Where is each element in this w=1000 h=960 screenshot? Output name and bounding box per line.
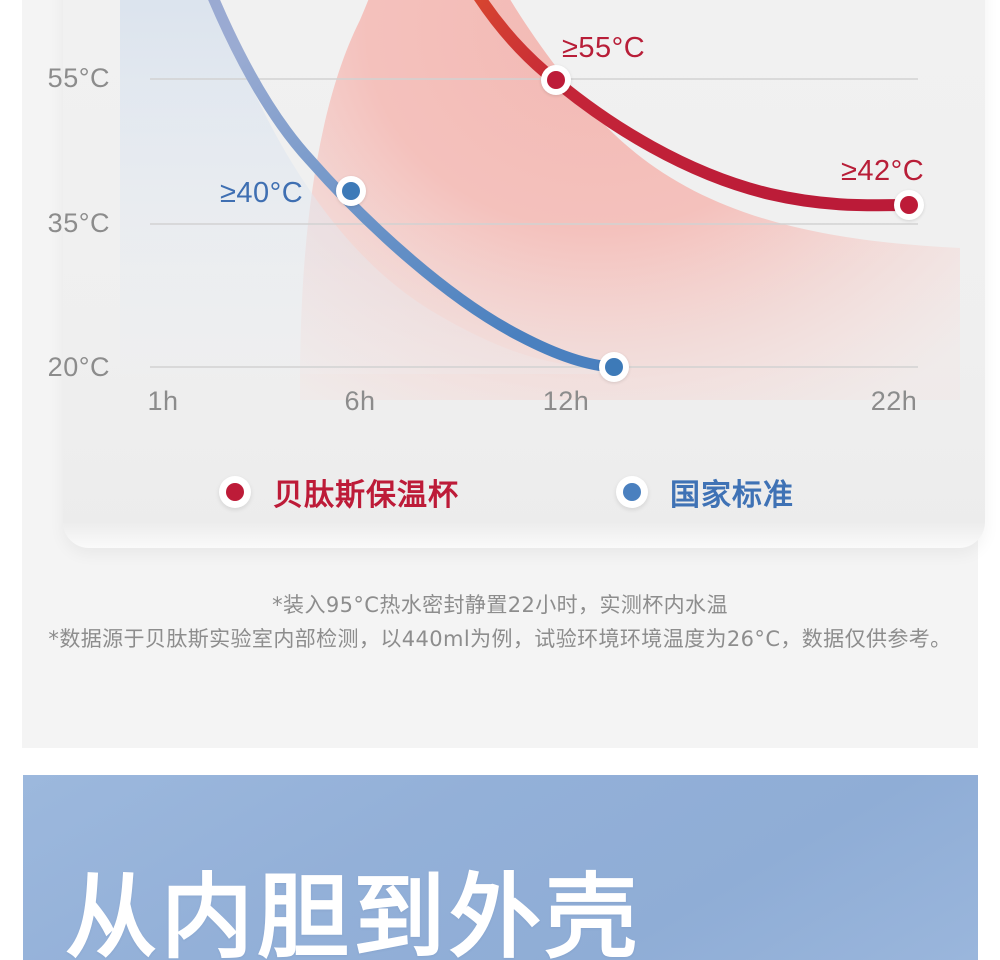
data-point-dot <box>547 71 565 89</box>
data-point-dot <box>900 196 918 214</box>
callout-red-42c: ≥42°C <box>841 155 924 188</box>
banner-title: 从内胆到外壳 <box>65 870 641 960</box>
legend-swatch-red-icon <box>219 476 251 508</box>
callout-red-55c: ≥55°C <box>562 32 645 65</box>
data-point-dot <box>605 358 623 376</box>
x-axis-label-1h: 1h <box>118 386 208 417</box>
x-axis-label-6h: 6h <box>315 386 405 417</box>
data-point-national-standard-12h[interactable] <box>599 352 629 382</box>
y-axis-label-35: 35°C <box>0 208 110 239</box>
data-point-beitaisi-12h[interactable] <box>541 65 571 95</box>
chart-legend: 贝肽斯保温杯 国家标准 <box>0 466 1000 514</box>
legend-dot-fill <box>226 483 244 501</box>
legend-label-national-standard: 国家标准 <box>670 470 794 514</box>
footnote-line-1: *装入95°C热水密封静置22小时，实测杯内水温 <box>22 588 978 622</box>
footnote-line-2: *数据源于贝肽斯实验室内部检测，以440ml为例，试验环境环境温度为26°C，数… <box>22 622 978 656</box>
y-axis-label-55: 55°C <box>0 63 110 94</box>
product-detail-page: 55°C 35°C 20°C 1h 6h 12h 22h ≥40°C ≥55°C… <box>0 0 1000 960</box>
legend-dot-fill <box>623 483 641 501</box>
section-banner-inner-to-outer: 从内胆到外壳 <box>23 775 978 960</box>
data-point-dot <box>342 182 360 200</box>
legend-swatch-blue-icon <box>616 476 648 508</box>
y-axis-label-20: 20°C <box>0 352 110 383</box>
legend-item-national-standard[interactable]: 国家标准 <box>616 470 794 514</box>
x-axis-label-12h: 12h <box>521 386 611 417</box>
data-point-beitaisi-22h[interactable] <box>894 190 924 220</box>
chart-svg <box>0 0 1000 430</box>
temperature-retention-chart: 55°C 35°C 20°C 1h 6h 12h 22h ≥40°C ≥55°C… <box>0 0 1000 430</box>
legend-label-beitaisi: 贝肽斯保温杯 <box>273 470 459 514</box>
x-axis-label-22h: 22h <box>849 386 939 417</box>
data-point-national-standard-6h[interactable] <box>336 176 366 206</box>
callout-blue-40c: ≥40°C <box>220 177 303 210</box>
chart-footnotes: *装入95°C热水密封静置22小时，实测杯内水温 *数据源于贝肽斯实验室内部检测… <box>22 588 978 656</box>
legend-item-beitaisi[interactable]: 贝肽斯保温杯 <box>219 470 459 514</box>
